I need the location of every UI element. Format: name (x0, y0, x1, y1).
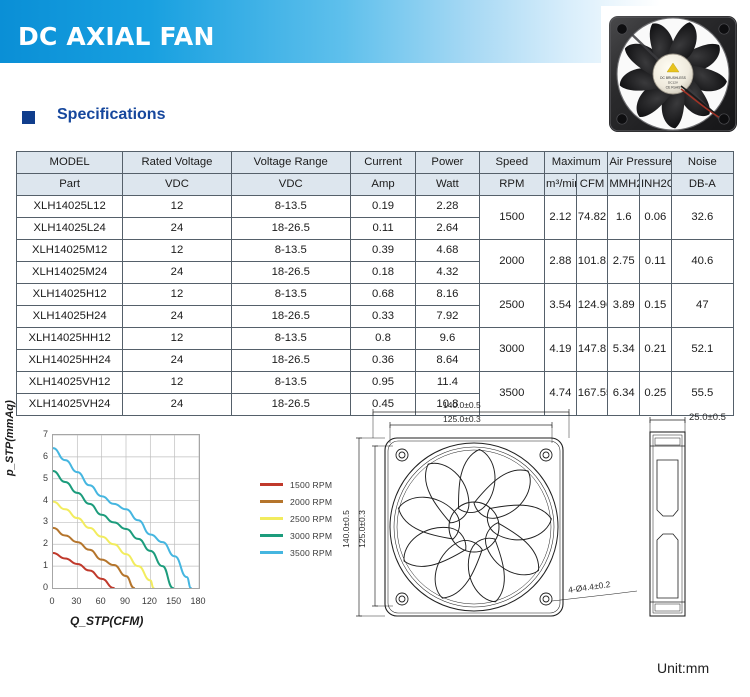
col-air-pressure: Air Pressure (608, 152, 671, 174)
voltage-range-cell: 18-26.5 (231, 218, 350, 240)
unit-label: Unit:mm (657, 660, 709, 676)
m3min-cell: 2.12 (545, 196, 577, 240)
dim-width-holes: 125.0±0.3 (443, 414, 481, 424)
chart-y-axis-label: p_STP(mmAq) (4, 400, 16, 476)
power-cell: 4.68 (416, 240, 479, 262)
rated-voltage-cell: 24 (123, 394, 231, 416)
rated-voltage-cell: 24 (123, 306, 231, 328)
speed-cell: 2000 (479, 240, 544, 284)
model-cell: XLH14025H12 (17, 284, 123, 306)
current-cell: 0.18 (350, 262, 415, 284)
col-noise: Noise (671, 152, 733, 174)
model-cell: XLH14025M24 (17, 262, 123, 284)
power-cell: 4.32 (416, 262, 479, 284)
cfm-cell: 124.96 (576, 284, 608, 328)
m3min-cell: 3.54 (545, 284, 577, 328)
legend-label: 3000 RPM (290, 531, 332, 541)
legend-swatch-icon (260, 500, 283, 503)
model-cell: XLH14025VH12 (17, 372, 123, 394)
unit-mmh2o: MMH2O (608, 174, 640, 196)
legend-swatch-icon (260, 534, 283, 537)
m3min-cell: 4.19 (545, 328, 577, 372)
model-cell: XLH14025L24 (17, 218, 123, 240)
chart-x-axis-label: Q_STP(CFM) (70, 614, 143, 628)
table-header: MODEL Rated Voltage Voltage Range Curren… (17, 152, 734, 196)
model-cell: XLH14025HH12 (17, 328, 123, 350)
noise-cell: 32.6 (671, 196, 733, 240)
table-row: XLH14025HH12128-13.50.89.630004.19147.85… (17, 328, 734, 350)
col-model: MODEL (17, 152, 123, 174)
voltage-range-cell: 18-26.5 (231, 350, 350, 372)
page-title: DC AXIAL FAN (18, 22, 215, 51)
power-cell: 8.16 (416, 284, 479, 306)
rated-voltage-cell: 12 (123, 284, 231, 306)
unit-part: Part (17, 174, 123, 196)
mmh2o-cell: 3.89 (608, 284, 640, 328)
noise-cell: 40.6 (671, 240, 733, 284)
table-row: XLH14025H12128-13.50.688.1625003.54124.9… (17, 284, 734, 306)
table-row: XLH14025L12128-13.50.192.2815002.1274.82… (17, 196, 734, 218)
inh2o-cell: 0.15 (640, 284, 672, 328)
legend-swatch-icon (260, 517, 283, 520)
current-cell: 0.36 (350, 350, 415, 372)
voltage-range-cell: 8-13.5 (231, 240, 350, 262)
legend-label: 1500 RPM (290, 480, 332, 490)
section-bullet-icon (22, 111, 35, 124)
power-cell: 2.28 (416, 196, 479, 218)
chart-y-tick: 4 (8, 495, 48, 505)
rated-voltage-cell: 12 (123, 196, 231, 218)
voltage-range-cell: 18-26.5 (231, 262, 350, 284)
chart-y-tick: 0 (8, 582, 48, 592)
chart-series-3500-rpm (53, 448, 191, 588)
table-header-row-1: MODEL Rated Voltage Voltage Range Curren… (17, 152, 734, 174)
col-power: Power (416, 152, 479, 174)
current-cell: 0.33 (350, 306, 415, 328)
m3min-cell: 2.88 (545, 240, 577, 284)
dim-height-holes: 125.0±0.3 (357, 510, 367, 548)
inh2o-cell: 0.11 (640, 240, 672, 284)
model-cell: XLH14025H24 (17, 306, 123, 328)
voltage-range-cell: 18-26.5 (231, 394, 350, 416)
speed-cell: 2500 (479, 284, 544, 328)
legend-item: 3000 RPM (260, 527, 332, 544)
power-cell: 7.92 (416, 306, 479, 328)
legend-label: 2000 RPM (290, 497, 332, 507)
table-header-row-2: Part VDC VDC Amp Watt RPM m³/min CFM MMH… (17, 174, 734, 196)
current-cell: 0.68 (350, 284, 415, 306)
section-heading: Specifications (57, 106, 165, 124)
model-cell: XLH14025VH24 (17, 394, 123, 416)
unit-cfm: CFM (576, 174, 608, 196)
chart-y-tick: 3 (8, 516, 48, 526)
unit-current: Amp (350, 174, 415, 196)
rated-voltage-cell: 12 (123, 240, 231, 262)
legend-swatch-icon (260, 551, 283, 554)
voltage-range-cell: 8-13.5 (231, 328, 350, 350)
unit-m3min: m³/min (545, 174, 577, 196)
specifications-table: MODEL Rated Voltage Voltage Range Curren… (16, 151, 734, 416)
col-speed: Speed (479, 152, 544, 174)
noise-cell: 52.1 (671, 328, 733, 372)
power-cell: 2.64 (416, 218, 479, 240)
rated-voltage-cell: 24 (123, 350, 231, 372)
unit-voltage-range: VDC (231, 174, 350, 196)
cfm-cell: 101.81 (576, 240, 608, 284)
chart-y-tick: 2 (8, 538, 48, 548)
rated-voltage-cell: 12 (123, 328, 231, 350)
legend-item: 2500 RPM (260, 510, 332, 527)
power-cell: 8.64 (416, 350, 479, 372)
mmh2o-cell: 1.6 (608, 196, 640, 240)
chart-y-tick: 1 (8, 560, 48, 570)
speed-cell: 1500 (479, 196, 544, 240)
cfm-cell: 147.8 (576, 328, 608, 372)
dim-width-outer: 140.0±0.5 (443, 400, 481, 410)
table-row: XLH14025M12128-13.50.394.6820002.88101.8… (17, 240, 734, 262)
svg-text:CE RoHS: CE RoHS (666, 86, 681, 90)
dim-height-outer: 140.0±0.5 (341, 510, 351, 548)
chart-legend: 1500 RPM2000 RPM2500 RPM3000 RPM3500 RPM (260, 476, 332, 561)
current-cell: 0.8 (350, 328, 415, 350)
model-cell: XLH14025M12 (17, 240, 123, 262)
col-voltage-range: Voltage Range (231, 152, 350, 174)
speed-cell: 3000 (479, 328, 544, 372)
model-cell: XLH14025L12 (17, 196, 123, 218)
inh2o-cell: 0.06 (640, 196, 672, 240)
legend-item: 1500 RPM (260, 476, 332, 493)
power-cell: 9.6 (416, 328, 479, 350)
col-rated-voltage: Rated Voltage (123, 152, 231, 174)
legend-item: 3500 RPM (260, 544, 332, 561)
mechanical-drawing: 140.0±0.5 125.0±0.3 140.0±0.5 125.0±0.3 … (345, 398, 745, 628)
noise-cell: 47 (671, 284, 733, 328)
rated-voltage-cell: 12 (123, 372, 231, 394)
current-cell: 0.95 (350, 372, 415, 394)
col-maximum: Maximum (545, 152, 608, 174)
table-body: XLH14025L12128-13.50.192.2815002.1274.82… (17, 196, 734, 416)
legend-swatch-icon (260, 483, 283, 486)
unit-power: Watt (416, 174, 479, 196)
fan-product-photo: DC BRUSHLESS DC12V CE RoHS (601, 6, 745, 140)
model-cell: XLH14025HH24 (17, 350, 123, 372)
unit-inh2o: INH2O (640, 174, 672, 196)
rated-voltage-cell: 24 (123, 262, 231, 284)
legend-label: 3500 RPM (290, 548, 332, 558)
chart-x-tick: 180 (184, 596, 212, 606)
chart-series-3000-rpm (53, 471, 173, 588)
voltage-range-cell: 8-13.5 (231, 196, 350, 218)
chart-plot-area (52, 434, 200, 589)
mmh2o-cell: 5.34 (608, 328, 640, 372)
inh2o-cell: 0.21 (640, 328, 672, 372)
table-row: XLH14025VH12128-13.50.9511.435004.74167.… (17, 372, 734, 394)
unit-noise: DB-A (671, 174, 733, 196)
mmh2o-cell: 2.75 (608, 240, 640, 284)
svg-text:DC BRUSHLESS: DC BRUSHLESS (660, 76, 686, 80)
voltage-range-cell: 8-13.5 (231, 372, 350, 394)
voltage-range-cell: 18-26.5 (231, 306, 350, 328)
legend-item: 2000 RPM (260, 493, 332, 510)
current-cell: 0.19 (350, 196, 415, 218)
svg-text:DC12V: DC12V (668, 81, 679, 85)
legend-label: 2500 RPM (290, 514, 332, 524)
chart-series-1500-rpm (53, 553, 114, 588)
voltage-range-cell: 8-13.5 (231, 284, 350, 306)
rated-voltage-cell: 24 (123, 218, 231, 240)
power-cell: 11.4 (416, 372, 479, 394)
unit-speed: RPM (479, 174, 544, 196)
cfm-cell: 74.82 (576, 196, 608, 240)
current-cell: 0.11 (350, 218, 415, 240)
col-current: Current (350, 152, 415, 174)
dim-thickness: 25.0±0.5 (689, 412, 726, 423)
current-cell: 0.39 (350, 240, 415, 262)
unit-rated-voltage: VDC (123, 174, 231, 196)
performance-chart: 01234567 0306090120150180 p_STP(mmAq) Q_… (8, 420, 338, 645)
